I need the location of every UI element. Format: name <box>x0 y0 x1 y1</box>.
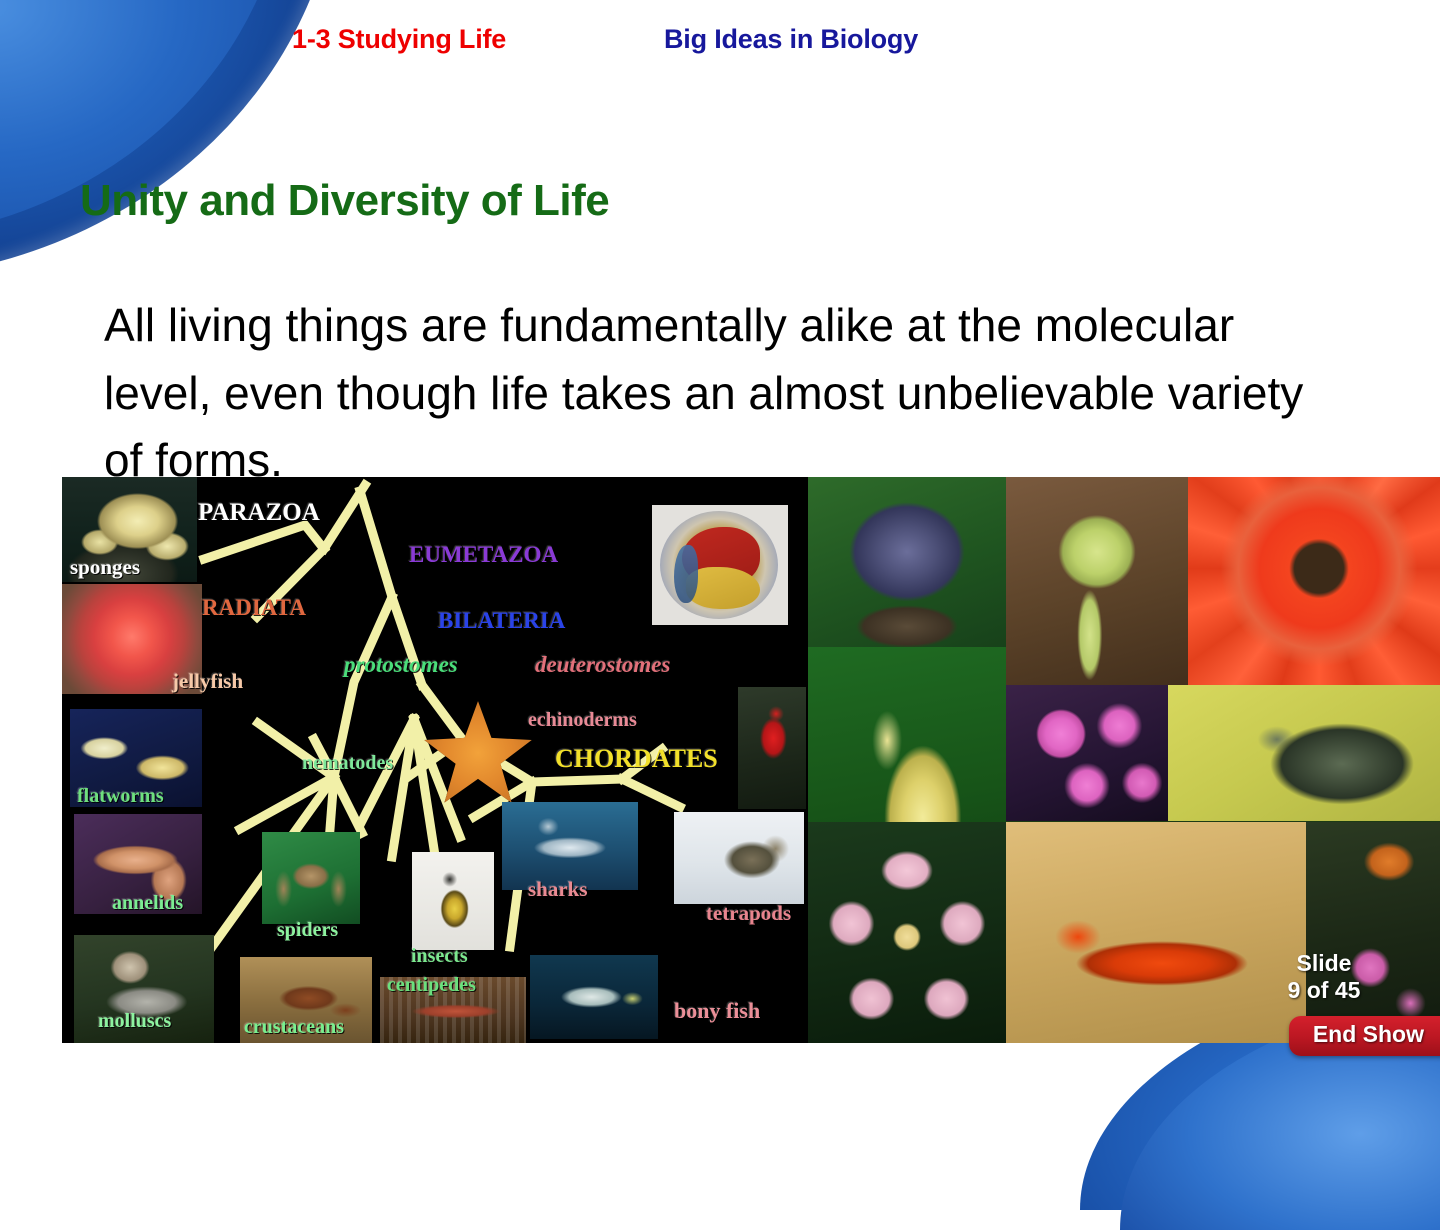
wild-rose-photo <box>808 822 1006 1043</box>
image-band: PARAZOA EUMETAZOA RADIATA BILATERIA prot… <box>62 477 1440 1043</box>
toad-photo <box>1168 685 1440 821</box>
page-title: Unity and Diversity of Life <box>80 176 609 226</box>
mollusc-photo <box>74 935 214 1043</box>
phylogenetic-tree-figure: PARAZOA EUMETAZOA RADIATA BILATERIA prot… <box>62 477 808 1043</box>
red-eft-photo <box>1006 822 1306 1043</box>
slide-counter: Slide 9 of 45 <box>1244 950 1404 1004</box>
embryo-diagram <box>652 505 788 625</box>
shark-photo <box>502 802 638 890</box>
insect-photo <box>412 852 494 950</box>
sea-anemone-photo <box>62 584 202 694</box>
slide-counter-word: Slide <box>1244 950 1404 977</box>
slide-counter-number: 9 of 45 <box>1244 977 1404 1004</box>
end-show-button[interactable]: End Show <box>1289 1016 1440 1056</box>
body-text: All living things are fundamentally alik… <box>104 292 1352 495</box>
flatworm-photo <box>70 709 202 807</box>
bee-balm-photo <box>1188 477 1440 685</box>
crustacean-photo <box>240 957 372 1043</box>
cardinal-photo <box>738 687 806 809</box>
centipede-photo <box>380 977 526 1043</box>
chapter-label: 1-3 Studying Life <box>292 24 506 55</box>
slide-header: 1-3 Studying Life Big Ideas in Biology <box>0 10 1440 50</box>
annelid-photo <box>74 814 202 914</box>
box-turtle-photo <box>808 477 1006 647</box>
butterfly-photo <box>1306 822 1440 1043</box>
bony-fish-photo <box>530 955 658 1039</box>
spider-photo <box>262 832 360 924</box>
phlox-photo <box>1006 685 1168 821</box>
luna-moth-photo <box>1006 477 1188 685</box>
section-label: Big Ideas in Biology <box>664 24 918 55</box>
wolf-photo <box>674 812 804 904</box>
